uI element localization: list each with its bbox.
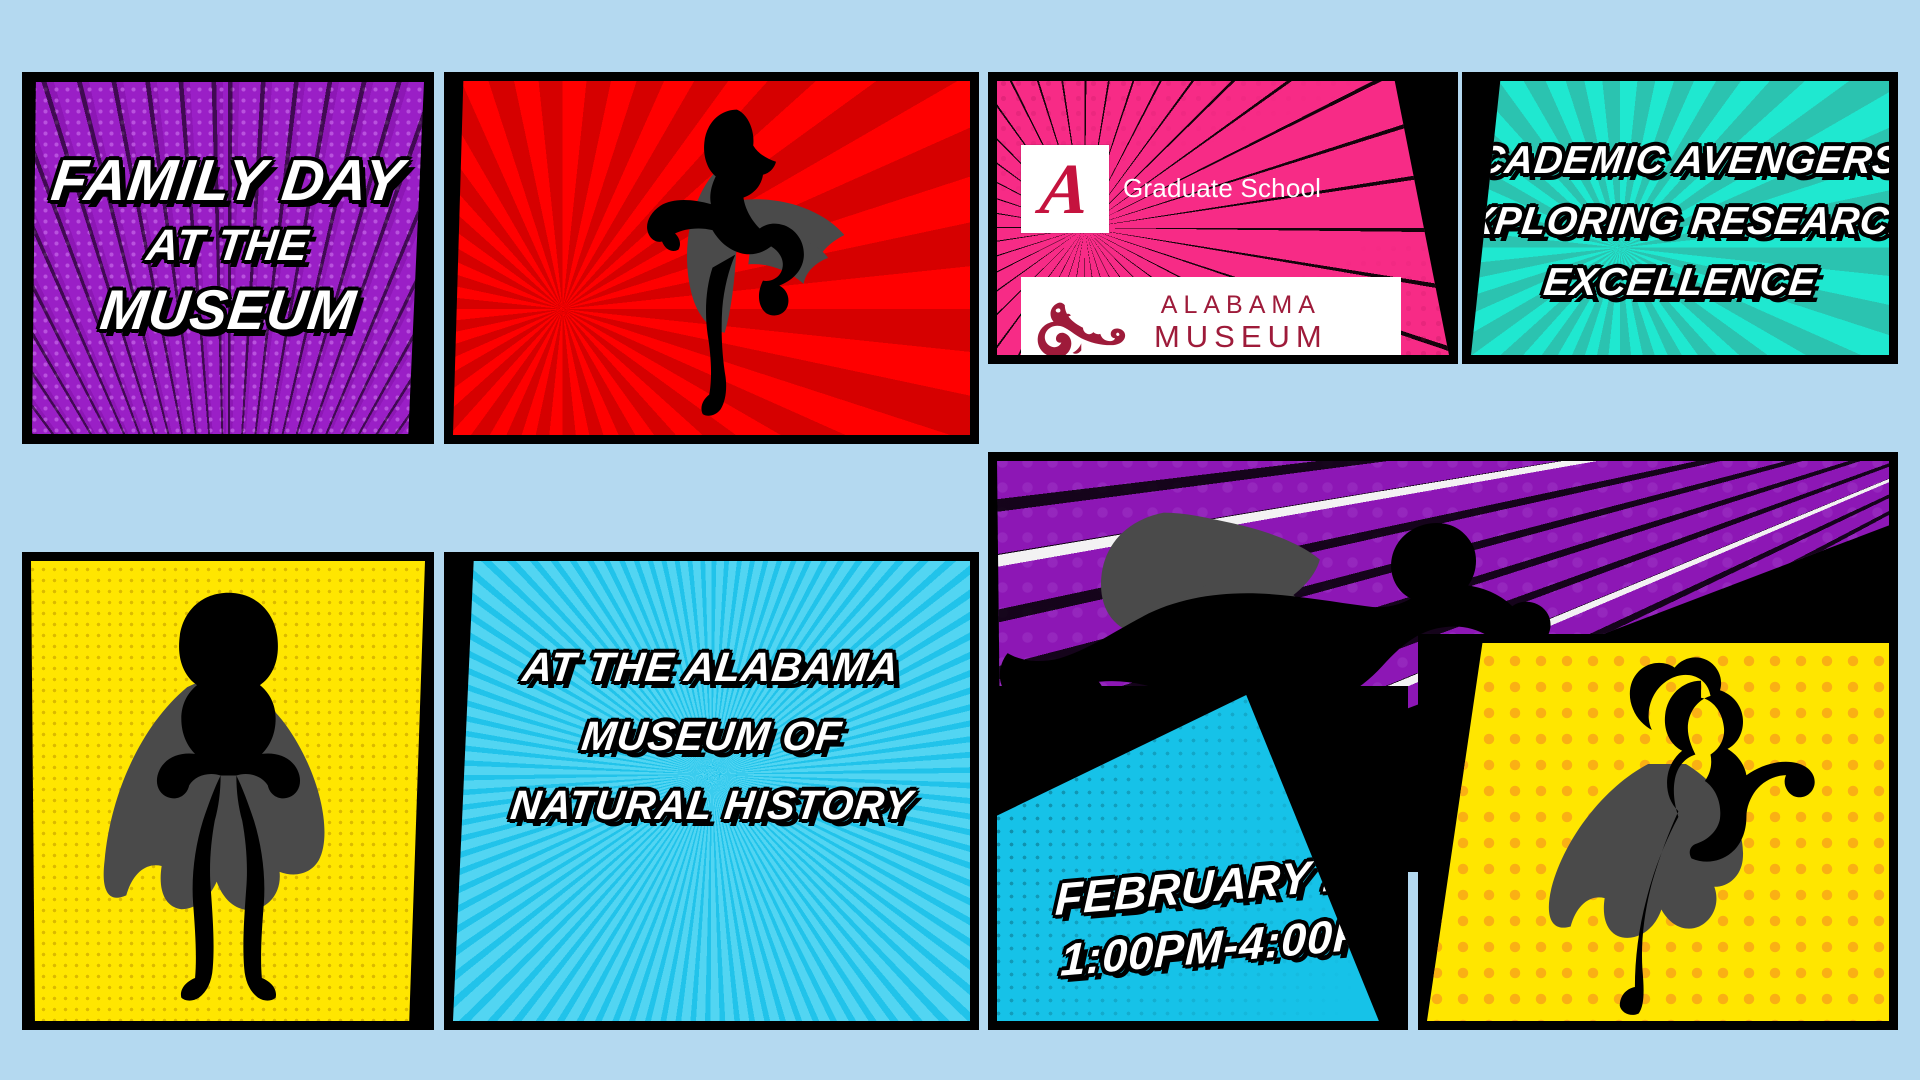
event-tagline-panel: ACADEMIC AVENGERS: EXPLORING RESEARCH EX…	[1462, 72, 1898, 364]
location-line-3: NATURAL HISTORY	[508, 785, 915, 826]
title-line-3: MUSEUM	[97, 282, 359, 338]
amnh-logo-card: ALABAMA MUSEUM OF NATURAL HISTORY	[1021, 277, 1401, 355]
tagline-line-1: ACADEMIC AVENGERS:	[1471, 141, 1889, 180]
standing-superheroine-silhouette	[63, 579, 394, 1011]
family-day-title-panel: FAMILY DAY AT THE MUSEUM	[22, 72, 434, 444]
title-line-2: AT THE	[144, 224, 311, 268]
sponsor-logos-panel: A Graduate School ALABAMA MUSEUM OF NATU…	[988, 72, 1458, 364]
fists-raised-superhero-silhouette	[1473, 643, 1861, 1021]
salamander-icon	[1031, 298, 1135, 355]
location-line-2: MUSEUM OF	[579, 716, 844, 757]
location-panel: AT THE ALABAMA MUSEUM OF NATURAL HISTORY	[444, 552, 979, 1030]
tagline-line-2: EXPLORING RESEARCH	[1471, 202, 1889, 241]
amnh-line-1: ALABAMA	[1161, 293, 1321, 318]
running-superhero-silhouette	[587, 95, 887, 421]
standing-heroine-panel	[22, 552, 434, 1030]
amnh-wordmark: ALABAMA MUSEUM OF NATURAL HISTORY	[1147, 293, 1335, 355]
tagline-line-3: EXCELLENCE	[1541, 263, 1818, 302]
tagline-text-block: ACADEMIC AVENGERS: EXPLORING RESEARCH EX…	[1511, 141, 1849, 302]
ua-script-a-logo: A	[1037, 153, 1093, 225]
amnh-line-2: MUSEUM	[1154, 321, 1328, 352]
event-datetime-panel: FEBRUARY 21, 2026 1:00PM-4:00PM	[988, 686, 1408, 1030]
location-line-1: AT THE ALABAMA	[521, 647, 902, 688]
running-hero-panel	[444, 72, 979, 444]
location-text-block: AT THE ALABAMA MUSEUM OF NATURAL HISTORY	[453, 647, 970, 826]
ua-logo-card: A	[1021, 145, 1109, 233]
title-line-1: FAMILY DAY	[49, 152, 408, 210]
graduate-school-label: Graduate School	[1123, 173, 1321, 204]
fists-up-hero-panel	[1418, 634, 1898, 1030]
comic-poster: FAMILY DAY AT THE MUSEUM	[0, 0, 1920, 1080]
title-text-block: FAMILY DAY AT THE MUSEUM	[32, 152, 424, 338]
